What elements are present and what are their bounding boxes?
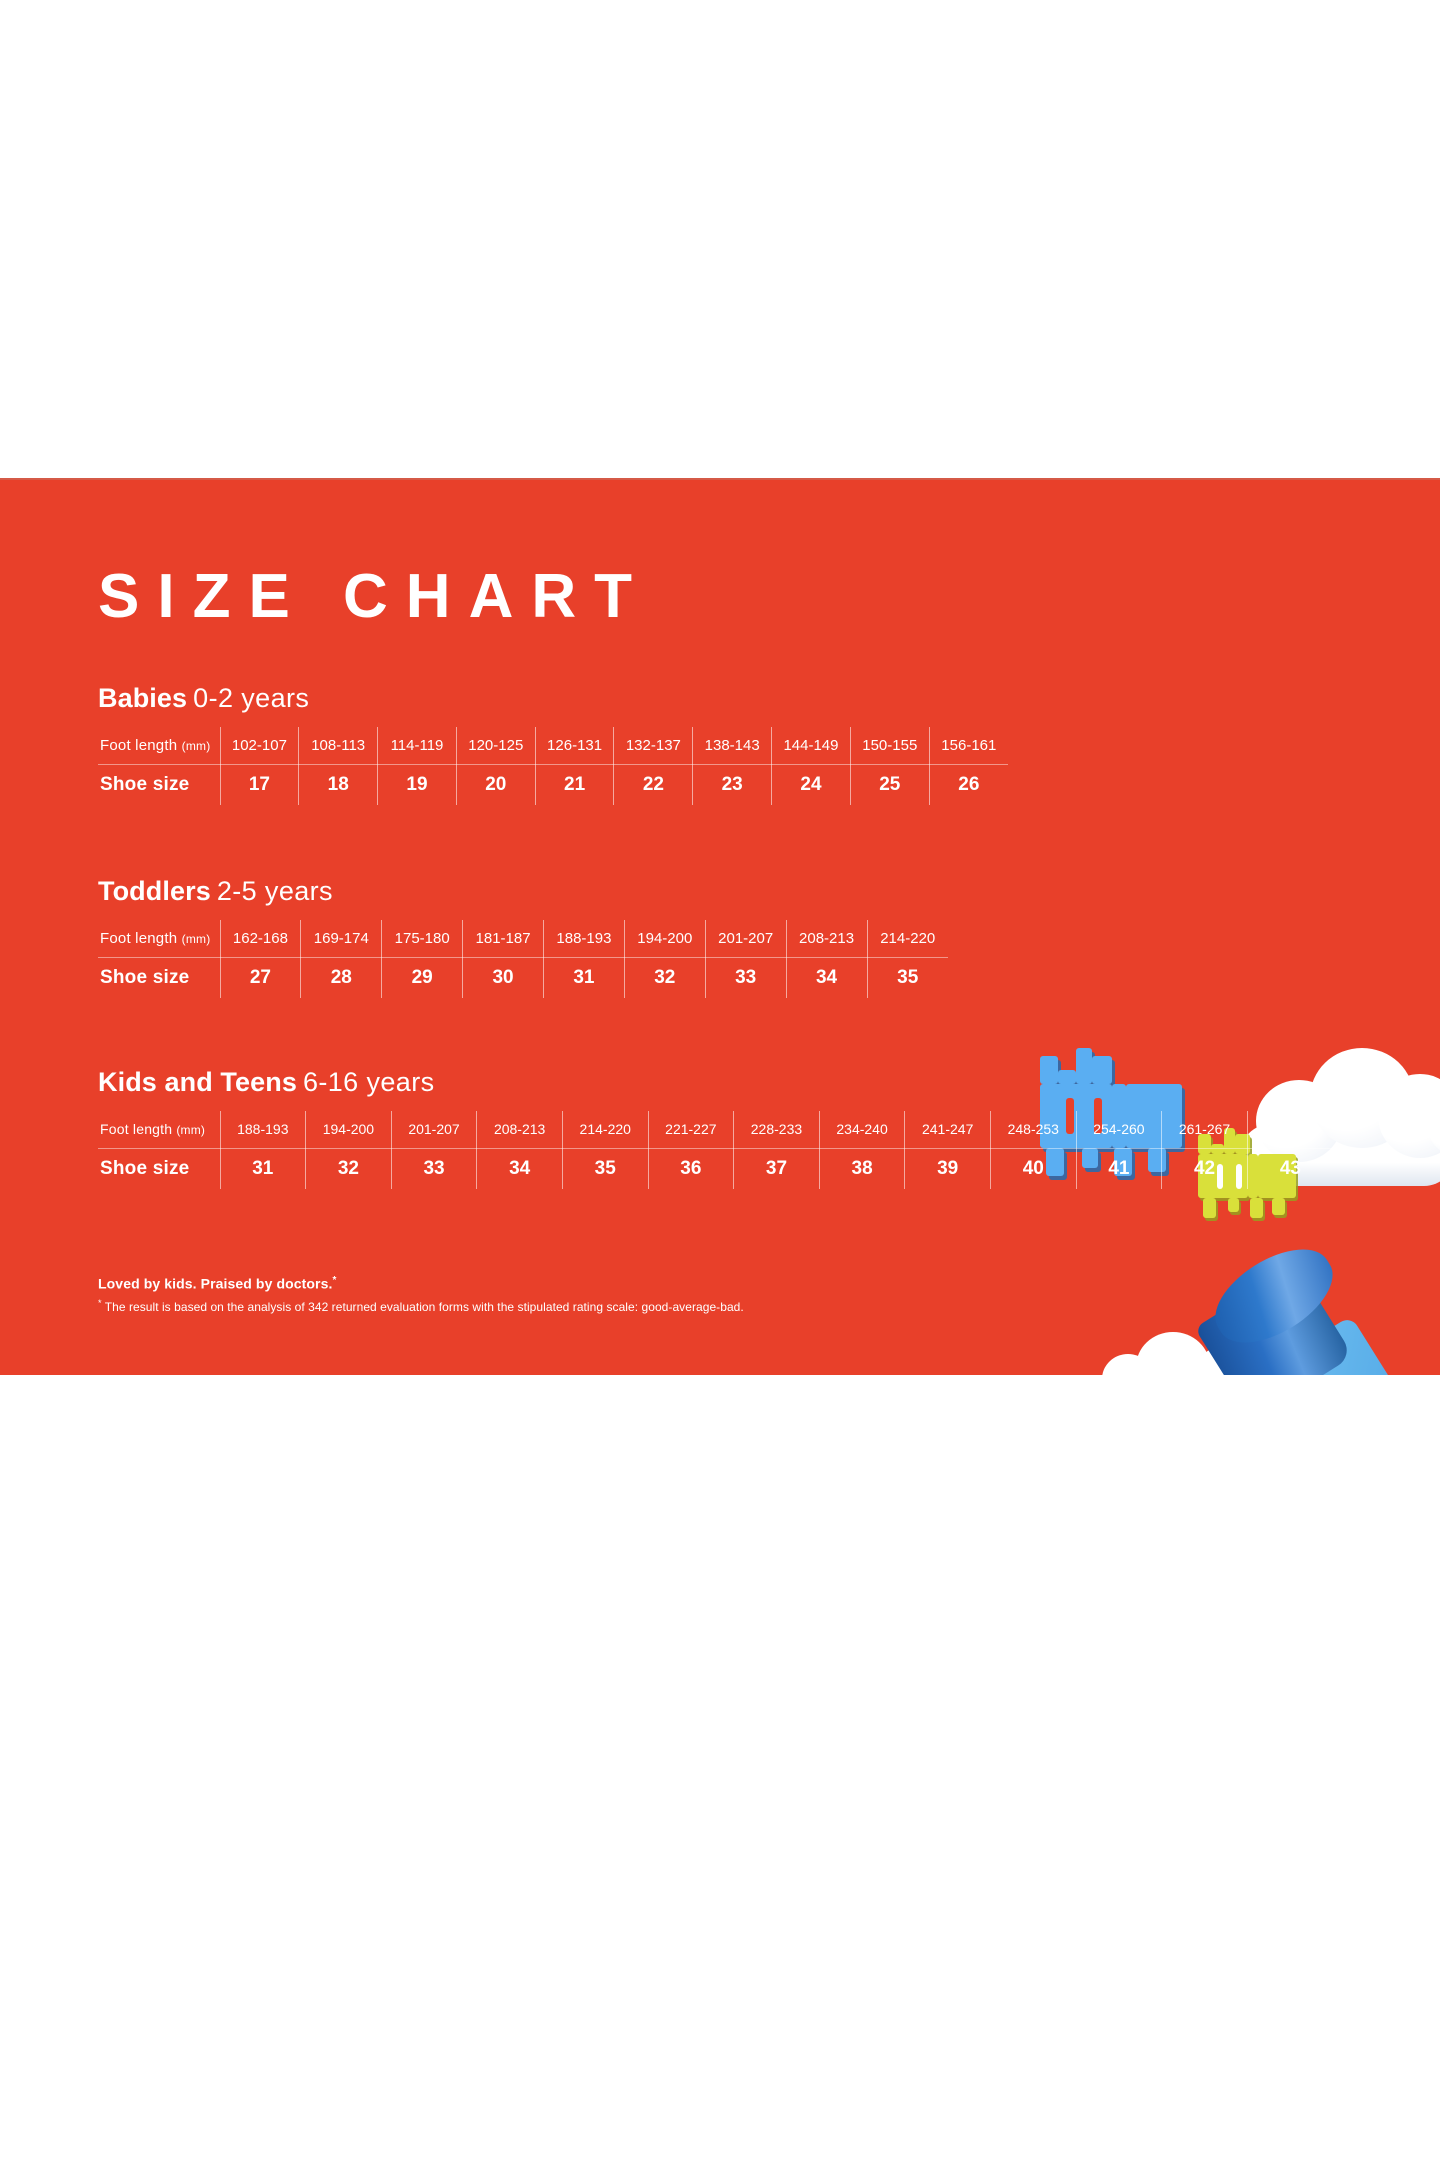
cell-shoe-size: 29 <box>382 958 463 998</box>
cell-shoe-size: 27 <box>220 958 301 998</box>
section-babies-heading: Babies0-2 years <box>98 684 1098 714</box>
cell-foot-length: 228-233 <box>734 1111 820 1149</box>
cell-shoe-size: 24 <box>772 765 851 805</box>
footnote-disclaimer-text: The result is based on the analysis of 3… <box>102 1300 744 1314</box>
table-row: Foot length (mm) 102-107 108-113 114-119… <box>98 727 1008 765</box>
cell-foot-length: 194-200 <box>624 920 705 958</box>
cell-shoe-size: 33 <box>391 1149 477 1189</box>
cell-shoe-size: 20 <box>456 765 535 805</box>
cell-foot-length: 234-240 <box>819 1111 905 1149</box>
cell-foot-length: 150-155 <box>850 727 929 765</box>
section-toddlers-heading: Toddlers2-5 years <box>98 877 1098 907</box>
row-label-foot-length: Foot length (mm) <box>98 727 220 765</box>
row-label-shoe-size: Shoe size <box>98 765 220 805</box>
cell-foot-length: 208-213 <box>786 920 867 958</box>
cell-foot-length: 126-131 <box>535 727 614 765</box>
page-title: SIZE CHART <box>98 566 650 628</box>
cell-foot-length: 156-161 <box>929 727 1008 765</box>
cell-shoe-size: 30 <box>463 958 544 998</box>
row-label-shoe-size: Shoe size <box>98 958 220 998</box>
cell-shoe-size: 17 <box>220 765 299 805</box>
cell-shoe-size: 39 <box>905 1149 991 1189</box>
table-row: Shoe size 17 18 19 20 21 22 23 24 25 26 <box>98 765 1008 805</box>
cell-foot-length: 254-260 <box>1076 1111 1162 1149</box>
cell-foot-length: 132-137 <box>614 727 693 765</box>
foot-length-text: Foot length <box>100 1121 172 1137</box>
cell-foot-length: 175-180 <box>382 920 463 958</box>
section-toddlers-age: 2-5 years <box>217 876 333 906</box>
row-label-foot-length: Foot length (mm) <box>98 1111 220 1149</box>
section-babies-group: Babies <box>98 683 187 713</box>
table-row: Shoe size 27 28 29 30 31 32 33 34 35 <box>98 958 948 998</box>
cell-foot-length: 169-174 <box>301 920 382 958</box>
section-toddlers: Toddlers2-5 years Foot length (mm) 162-1… <box>98 877 1098 998</box>
cell-foot-length: 194-200 <box>306 1111 392 1149</box>
cell-shoe-size: 38 <box>819 1149 905 1189</box>
table-row: Foot length (mm) 188-193 194-200 201-207… <box>98 1111 1333 1149</box>
cell-shoe-size: 33 <box>705 958 786 998</box>
cell-shoe-size: 26 <box>929 765 1008 805</box>
section-kids-age: 6-16 years <box>303 1067 435 1097</box>
cell-foot-length: 144-149 <box>772 727 851 765</box>
foot-length-text: Foot length <box>100 930 177 947</box>
cell-foot-length: 214-220 <box>867 920 948 958</box>
row-label-foot-length: Foot length (mm) <box>98 920 220 958</box>
cell-foot-length: 188-193 <box>544 920 625 958</box>
cell-foot-length: 248-253 <box>990 1111 1076 1149</box>
foot-length-unit: (mm) <box>176 1123 205 1137</box>
cell-shoe-size: 41 <box>1076 1149 1162 1189</box>
cell-shoe-size: 34 <box>477 1149 563 1189</box>
section-babies-age: 0-2 years <box>193 683 309 713</box>
footnote-tagline-text: Loved by kids. Praised by doctors. <box>98 1276 332 1292</box>
cell-shoe-size: 34 <box>786 958 867 998</box>
footnote-tagline: Loved by kids. Praised by doctors.* <box>98 1275 744 1292</box>
cell-shoe-size: 23 <box>693 765 772 805</box>
cell-foot-length: 241-247 <box>905 1111 991 1149</box>
stamp-object-3d-icon <box>1170 1248 1440 1375</box>
section-babies: Babies0-2 years Foot length (mm) 102-107… <box>98 684 1098 805</box>
table-row: Shoe size 31 32 33 34 35 36 37 38 39 40 … <box>98 1149 1333 1189</box>
cell-foot-length: 108-113 <box>299 727 378 765</box>
cell-shoe-size: 35 <box>562 1149 648 1189</box>
table-row: Foot length (mm) 162-168 169-174 175-180… <box>98 920 948 958</box>
cell-foot-length: 188-193 <box>220 1111 306 1149</box>
cell-shoe-size: 19 <box>378 765 457 805</box>
cell-shoe-size: 31 <box>544 958 625 998</box>
table-kids-and-teens: Foot length (mm) 188-193 194-200 201-207… <box>98 1111 1333 1189</box>
cell-foot-length: 214-220 <box>562 1111 648 1149</box>
cell-foot-length: 268-274 <box>1247 1111 1333 1149</box>
section-toddlers-group: Toddlers <box>98 876 211 906</box>
foot-length-unit: (mm) <box>182 932 211 946</box>
cell-foot-length: 114-119 <box>378 727 457 765</box>
cell-shoe-size: 21 <box>535 765 614 805</box>
foot-length-unit: (mm) <box>182 739 211 753</box>
cell-shoe-size: 22 <box>614 765 693 805</box>
table-toddlers: Foot length (mm) 162-168 169-174 175-180… <box>98 920 948 998</box>
cell-shoe-size: 35 <box>867 958 948 998</box>
footnote-block: Loved by kids. Praised by doctors.* * Th… <box>98 1275 744 1314</box>
cell-shoe-size: 42 <box>1162 1149 1248 1189</box>
section-kids-group: Kids and Teens <box>98 1067 297 1097</box>
cell-foot-length: 138-143 <box>693 727 772 765</box>
footnote-tagline-marker: * <box>332 1275 336 1286</box>
cell-foot-length: 261-267 <box>1162 1111 1248 1149</box>
cell-foot-length: 201-207 <box>705 920 786 958</box>
cell-foot-length: 221-227 <box>648 1111 734 1149</box>
section-kids-and-teens: Kids and Teens6-16 years Foot length (mm… <box>98 1068 1368 1189</box>
cell-shoe-size: 37 <box>734 1149 820 1189</box>
cell-foot-length: 120-125 <box>456 727 535 765</box>
footnote-disclaimer: * The result is based on the analysis of… <box>98 1298 744 1314</box>
foot-length-text: Foot length <box>100 737 177 754</box>
cell-shoe-size: 32 <box>624 958 705 998</box>
cell-shoe-size: 28 <box>301 958 382 998</box>
cell-shoe-size: 43 <box>1247 1149 1333 1189</box>
cell-foot-length: 201-207 <box>391 1111 477 1149</box>
table-babies: Foot length (mm) 102-107 108-113 114-119… <box>98 727 1008 805</box>
row-label-shoe-size: Shoe size <box>98 1149 220 1189</box>
cell-shoe-size: 18 <box>299 765 378 805</box>
cell-shoe-size: 31 <box>220 1149 306 1189</box>
section-kids-heading: Kids and Teens6-16 years <box>98 1068 1368 1098</box>
cell-shoe-size: 36 <box>648 1149 734 1189</box>
size-chart-page: SIZE CHART Babies0-2 years Foot length (… <box>0 0 1440 2160</box>
cell-foot-length: 181-187 <box>463 920 544 958</box>
cell-foot-length: 208-213 <box>477 1111 563 1149</box>
cell-shoe-size: 25 <box>850 765 929 805</box>
cell-foot-length: 162-168 <box>220 920 301 958</box>
panel-top-divider <box>0 478 1440 480</box>
cell-shoe-size: 32 <box>306 1149 392 1189</box>
cell-foot-length: 102-107 <box>220 727 299 765</box>
cell-shoe-size: 40 <box>990 1149 1076 1189</box>
